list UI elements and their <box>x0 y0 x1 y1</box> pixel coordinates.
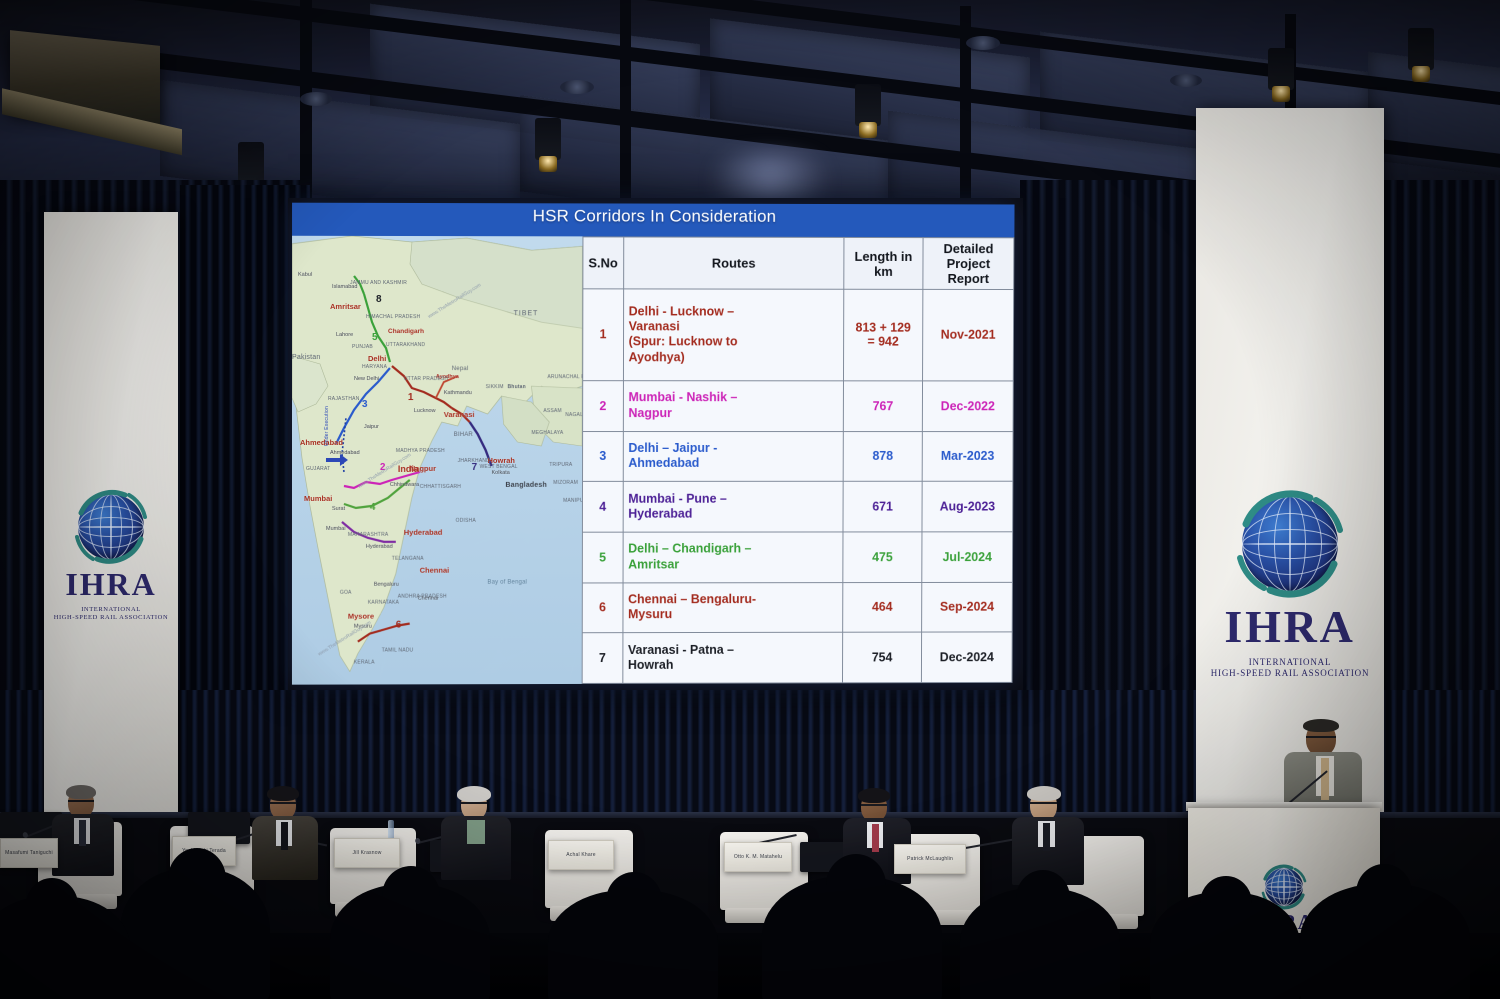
map-region-label: Nepal <box>452 366 469 372</box>
cell-dpr: Nov-2021 <box>923 289 1014 380</box>
stage-spotlight <box>238 142 264 184</box>
map-city-label: Chandigarh <box>388 328 424 335</box>
ceiling-beam <box>620 0 631 200</box>
placard-name: Achal Khare <box>566 852 595 858</box>
header-routes: Routes <box>623 237 844 289</box>
header-dpr-line2: Project <box>928 256 1008 271</box>
map-region-label: MIZORAM <box>553 480 578 486</box>
cell-sno: 7 <box>582 633 622 684</box>
map-minor-label: Surat <box>332 506 345 512</box>
header-length: Length in km <box>844 237 923 289</box>
hsr-corridors-table: S.No Routes Length in km Detailed Projec… <box>582 236 1015 684</box>
map-route-number: 4 <box>370 502 376 513</box>
map-region-label: SIKKIM <box>486 384 504 390</box>
ihra-tagline-line1: INTERNATIONAL <box>1196 657 1384 668</box>
map-city-label: Ahmedabad <box>300 438 343 447</box>
length-line1: 475 <box>848 550 916 564</box>
map-minor-label: Kathmandu <box>444 390 472 396</box>
map-region-label: MAHARASHTRA <box>348 532 388 538</box>
ceiling-projector <box>10 30 160 126</box>
presentation-slide: HSR Corridors In Consideration <box>292 203 1015 685</box>
map-region-label: BIHAR <box>454 432 473 438</box>
header-dpr: Detailed Project Report <box>923 238 1014 290</box>
ihra-tagline-line2: HIGH-SPEED RAIL ASSOCIATION <box>1196 668 1384 679</box>
cell-route: Chennai – Bengaluru-Mysuru <box>623 582 843 633</box>
cell-dpr: Dec-2024 <box>921 632 1012 682</box>
ceiling-beam <box>960 6 971 205</box>
map-country-label: India <box>398 464 419 474</box>
map-region-label: Bangladesh <box>505 482 546 489</box>
route-line: Ayodhya) <box>629 350 839 365</box>
route-line: Mumbai - Nashik – <box>628 391 838 406</box>
map-region-label: RAJASTHAN <box>328 396 360 402</box>
audience-head <box>382 866 440 926</box>
map-minor-label: Kabul <box>298 272 312 278</box>
cell-route: Delhi - Lucknow –Varanasi(Spur: Lucknow … <box>623 289 844 381</box>
header-length-line1: Length in <box>849 248 917 263</box>
header-length-line2: km <box>849 263 917 278</box>
map-region-label: PUNJAB <box>352 344 373 350</box>
cell-route: Delhi – Jaipur -Ahmedabad <box>623 431 843 481</box>
route-line: (Spur: Lucknow to <box>629 335 839 350</box>
map-minor-label: New Delhi <box>354 376 379 382</box>
cell-sno: 1 <box>583 289 624 381</box>
map-under-execution-label: Under Execution <box>324 406 330 446</box>
cell-dpr: Dec-2022 <box>922 381 1013 431</box>
table-header-row: S.No Routes Length in km Detailed Projec… <box>583 237 1014 290</box>
map-minor-label: Bengaluru <box>374 582 399 588</box>
projection-screen: HSR Corridors In Consideration <box>292 203 1015 685</box>
route-line: Nagpur <box>628 406 838 421</box>
cell-length: 813 + 129= 942 <box>843 289 922 381</box>
table-row: 1Delhi - Lucknow –Varanasi(Spur: Lucknow… <box>583 289 1014 381</box>
table-row: 7Varanasi - Patna –Howrah754Dec-2024 <box>582 632 1012 683</box>
route-line: Mumbai - Pune – <box>628 492 837 507</box>
map-route-number: 8 <box>376 294 382 305</box>
cell-route: Varanasi - Patna –Howrah <box>622 632 842 683</box>
table-row: 5Delhi – Chandigarh –Amritsar475Jul-2024 <box>582 532 1012 583</box>
map-region-label: TRIPURA <box>549 462 572 468</box>
route-line: Hyderabad <box>628 507 837 522</box>
ihra-tagline-line2: HIGH-SPEED RAIL ASSOCIATION <box>44 614 178 622</box>
map-sea-label: Bay of Bengal <box>487 580 527 586</box>
map-minor-label: Mumbai <box>326 526 346 532</box>
map-region-label: KERALA <box>354 660 375 666</box>
audience-head <box>1356 864 1412 922</box>
length-line1: 767 <box>849 399 917 413</box>
conference-scene: IHRA INTERNATIONAL HIGH-SPEED RAIL ASSOC… <box>0 0 1500 999</box>
map-city-label: Hyderabad <box>404 528 443 537</box>
map-region-label: UTTAR PRADESH <box>404 376 448 382</box>
map-region-label: GUJARAT <box>306 466 330 472</box>
table-row: 2Mumbai - Nashik –Nagpur767Dec-2022 <box>583 381 1014 432</box>
cell-route: Mumbai - Pune –Hyderabad <box>623 482 843 533</box>
map-region-label: ODISHA <box>456 518 476 524</box>
ceiling-downlight <box>300 92 332 106</box>
table-row: 4Mumbai - Pune –Hyderabad671Aug-2023 <box>582 481 1012 532</box>
cell-sno: 6 <box>582 582 622 632</box>
map-region-label: Pakistan <box>292 354 320 361</box>
map-route-number: 5 <box>372 332 378 343</box>
map-route-number: 6 <box>396 620 402 631</box>
placard-name: Jill Krasnow <box>352 850 381 856</box>
audience-head <box>606 872 662 930</box>
audience-head <box>168 848 226 910</box>
cell-length: 754 <box>842 632 921 682</box>
route-line: Delhi – Chandigarh – <box>628 542 837 557</box>
india-hsr-map: 1 2 3 4 5 6 7 8 Amritsar Chandigarh Delh… <box>292 236 583 685</box>
route-line: Mysuru <box>628 607 837 623</box>
map-region-label: ANDHRA PRADESH <box>398 594 447 600</box>
route-line: Chennai – Bengaluru- <box>628 592 837 607</box>
cell-length: 671 <box>843 481 922 531</box>
route-line: Varanasi - Patna – <box>628 643 837 659</box>
map-city-label: Amritsar <box>330 302 361 311</box>
map-city-label: Mysore <box>348 612 374 621</box>
map-minor-label: Hyderabad <box>366 544 393 550</box>
header-sno: S.No <box>583 237 624 289</box>
name-placard: Patrick McLaughlin <box>894 844 966 874</box>
table-row: 3Delhi – Jaipur -Ahmedabad878Mar-2023 <box>583 431 1014 482</box>
cell-length: 464 <box>843 582 922 632</box>
ceiling-downlight <box>966 36 1000 50</box>
map-region-label: HIMACHAL PRADESH <box>366 314 420 320</box>
cell-length: 878 <box>843 431 922 481</box>
table-row: 6Chennai – Bengaluru-Mysuru464Sep-2024 <box>582 582 1012 633</box>
length-line1: 813 + 129 <box>849 321 917 335</box>
cell-dpr: Mar-2023 <box>922 431 1013 481</box>
map-minor-label: Lahore <box>336 332 353 338</box>
map-region-label: KARNATAKA <box>368 600 399 606</box>
map-city-label: Mumbai <box>304 494 332 503</box>
name-placard: Otto K. M. Matahelu <box>724 842 792 872</box>
cell-length: 767 <box>843 381 922 431</box>
audience-head <box>26 878 78 932</box>
placard-name: Patrick McLaughlin <box>907 856 953 862</box>
route-line: Delhi – Jaipur - <box>628 441 837 456</box>
ceiling-downlight <box>1170 74 1202 87</box>
cell-dpr: Aug-2023 <box>922 481 1013 531</box>
length-line1: 878 <box>849 449 917 463</box>
route-line: Howrah <box>628 658 837 674</box>
stage-spotlight <box>855 84 881 126</box>
slide-body: 1 2 3 4 5 6 7 8 Amritsar Chandigarh Delh… <box>292 236 1014 685</box>
map-region-label: JAMMU AND KASHMIR <box>350 280 407 286</box>
map-region-label: MEGHALAYA <box>531 430 563 436</box>
route-line: Delhi - Lucknow – <box>629 304 839 319</box>
map-city-label: Varanasi <box>444 410 475 419</box>
map-region-label: MADHYA PRADESH <box>396 448 445 454</box>
map-region-label: WEST BENGAL <box>480 464 518 470</box>
map-region-label: UTTARAKHAND <box>386 342 425 348</box>
stage-spotlight <box>1408 28 1434 70</box>
placard-name: Otto K. M. Matahelu <box>734 854 782 860</box>
map-region-label: MANIPUR <box>563 498 582 504</box>
cell-sno: 5 <box>582 532 622 582</box>
cell-route: Delhi – Chandigarh –Amritsar <box>623 532 843 583</box>
map-region-label: ARUNACHAL PRADESH <box>547 374 582 380</box>
length-line1: 671 <box>848 500 916 514</box>
slide-title-bar: HSR Corridors In Consideration <box>292 203 1014 238</box>
header-dpr-line1: Detailed <box>928 241 1008 256</box>
cell-sno: 4 <box>582 482 622 532</box>
globe-swoosh-arcs-icon <box>63 479 159 575</box>
cell-sno: 2 <box>583 381 623 432</box>
map-region-label: Bhutan <box>508 384 526 390</box>
map-city-label: Chennai <box>420 566 449 575</box>
header-dpr-line3: Report <box>928 271 1008 286</box>
ceiling-downlight <box>560 80 594 94</box>
cell-dpr: Jul-2024 <box>922 532 1013 582</box>
cell-dpr: Sep-2024 <box>922 582 1013 632</box>
map-region-label: GOA <box>340 590 352 596</box>
cell-length: 475 <box>843 532 922 582</box>
map-region-label: TELANGANA <box>392 556 424 562</box>
map-region-label: HARYANA <box>362 364 387 370</box>
stage-spotlight <box>1268 48 1294 90</box>
length-line2: = 942 <box>849 335 917 349</box>
map-minor-label: Jaipur <box>364 424 379 430</box>
route-line: Ahmedabad <box>628 456 837 471</box>
audience-head <box>1200 876 1252 930</box>
placard-name: Masafumi Taniguchi <box>5 850 53 856</box>
cell-route: Mumbai - Nashik –Nagpur <box>623 381 844 432</box>
route-line: Varanasi <box>629 320 839 335</box>
table-body: 1Delhi - Lucknow –Varanasi(Spur: Lucknow… <box>582 289 1014 684</box>
name-placard: Masafumi Taniguchi <box>0 838 58 868</box>
slide-title: HSR Corridors In Consideration <box>292 206 1014 228</box>
map-region-label: CHHATTISGARH <box>420 484 461 490</box>
length-line1: 754 <box>848 651 916 665</box>
map-region-label: TAMIL NADU <box>382 648 414 654</box>
map-region-label: ASSAM <box>543 408 561 414</box>
map-region-label: TIBET <box>514 310 539 317</box>
map-route-number: 1 <box>408 392 414 403</box>
route-line: Amritsar <box>628 557 837 572</box>
audience-head <box>1016 870 1070 926</box>
name-placard: Jill Krasnow <box>334 838 400 868</box>
length-line1: 464 <box>848 600 916 614</box>
map-city-label: Delhi <box>368 354 386 363</box>
map-minor-label: Lucknow <box>414 408 436 414</box>
name-placard: Achal Khare <box>548 840 614 870</box>
globe-swoosh-arcs-icon <box>1220 474 1360 614</box>
map-minor-label: Kolkata <box>492 470 510 476</box>
map-minor-label: Chhindwara <box>390 482 419 488</box>
cell-sno: 3 <box>583 431 623 482</box>
ihra-tagline-line1: INTERNATIONAL <box>44 606 178 614</box>
map-minor-label: Ahmedabad <box>330 450 360 456</box>
audience-head <box>826 854 886 916</box>
map-region-label: NAGALAND <box>565 412 582 418</box>
stage-spotlight <box>535 118 561 160</box>
map-route-number: 3 <box>362 399 368 410</box>
